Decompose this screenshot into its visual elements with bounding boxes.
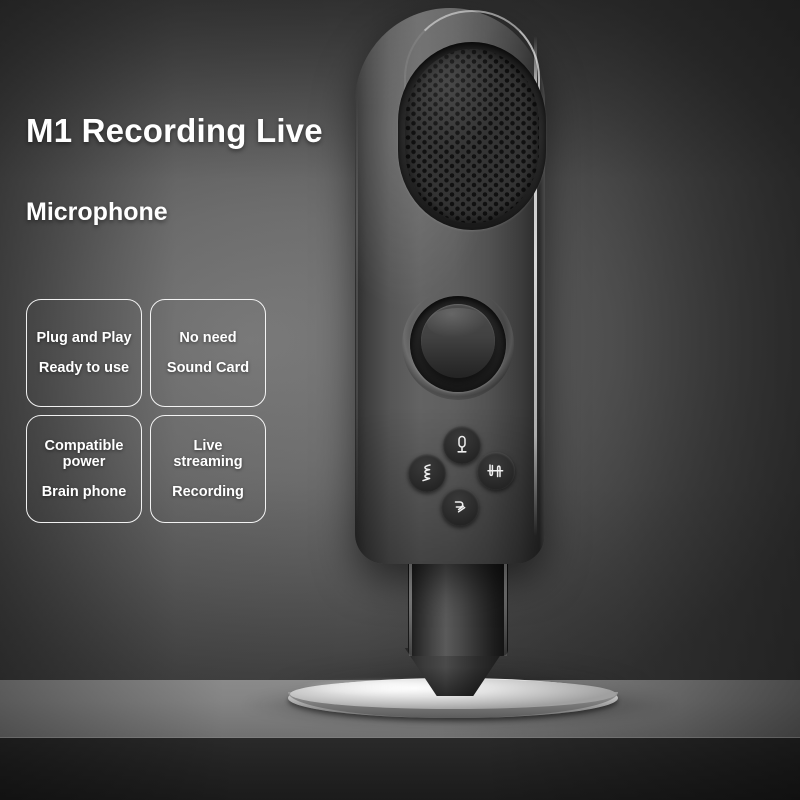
page-title: M1 Recording Live bbox=[26, 112, 323, 150]
feature-line-top: Live streaming bbox=[157, 438, 259, 470]
waveform-icon bbox=[485, 461, 507, 481]
feature-line-bottom: Ready to use bbox=[39, 360, 129, 376]
feature-line-top: Compatible power bbox=[33, 438, 135, 470]
feature-badge-grid: Plug and Play Ready to use No need Sound… bbox=[26, 299, 266, 523]
zigzag-wave-icon bbox=[418, 463, 436, 483]
microphone-icon bbox=[453, 435, 471, 455]
feature-badge-plug-and-play[interactable]: Plug and Play Ready to use bbox=[26, 299, 142, 407]
chevron-forward-icon bbox=[450, 498, 470, 516]
monitor-button[interactable] bbox=[441, 488, 479, 526]
stand-column bbox=[408, 552, 508, 656]
feature-line-bottom: Brain phone bbox=[42, 484, 127, 500]
product-hero-image: M1 Recording Live Microphone Plug and Pl… bbox=[0, 0, 800, 800]
page-subtitle: Microphone bbox=[26, 198, 168, 227]
microphone-button[interactable] bbox=[443, 426, 481, 464]
feature-badge-no-sound-card[interactable]: No need Sound Card bbox=[150, 299, 266, 407]
microphone-left-edge-highlight bbox=[356, 90, 358, 520]
feature-line-top: No need bbox=[179, 330, 236, 346]
stand-column-left-highlight bbox=[409, 552, 412, 656]
volume-knob-highlight bbox=[427, 308, 489, 338]
feature-line-bottom: Sound Card bbox=[167, 360, 249, 376]
feature-line-bottom: Recording bbox=[172, 484, 244, 500]
reverb-button[interactable] bbox=[408, 454, 446, 492]
effect-button[interactable] bbox=[477, 452, 515, 490]
table-front-shading bbox=[0, 738, 800, 800]
feature-badge-compatible-power[interactable]: Compatible power Brain phone bbox=[26, 415, 142, 523]
stand-column-right-highlight bbox=[504, 552, 507, 656]
feature-badge-live-streaming[interactable]: Live streaming Recording bbox=[150, 415, 266, 523]
microphone-grille-sheen bbox=[405, 49, 539, 223]
feature-line-top: Plug and Play bbox=[36, 330, 131, 346]
